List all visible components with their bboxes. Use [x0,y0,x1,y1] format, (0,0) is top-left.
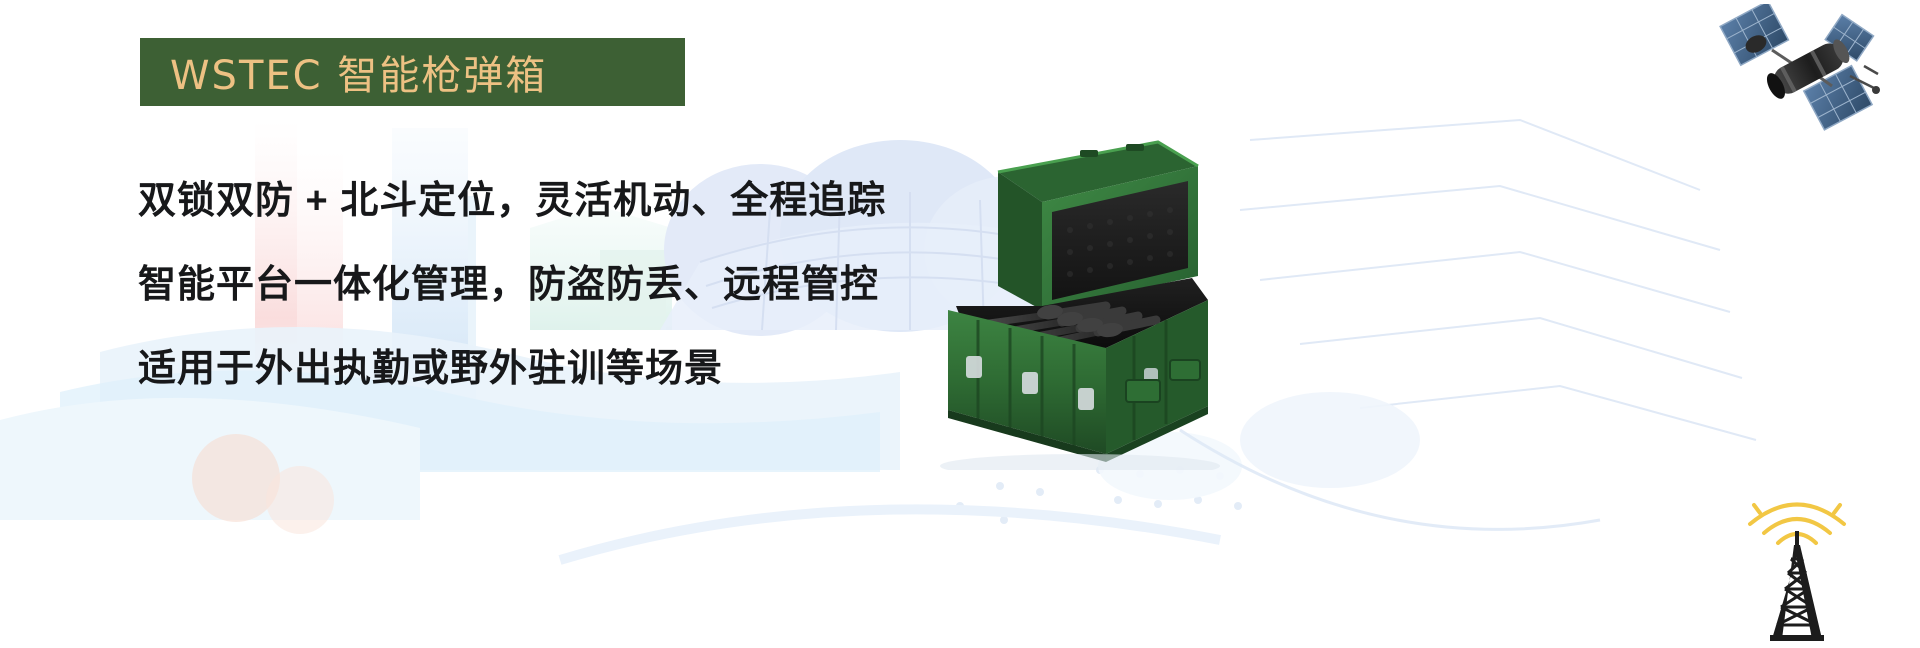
product-image [930,110,1270,470]
promo-banner-canvas: WSTEC 智能枪弹箱 双锁双防 + 北斗定位，灵活机动、全程追踪 智能平台一体… [0,0,1920,648]
signal-tower-icon [1722,497,1872,642]
feature-line-2: 智能平台一体化管理，防盗防丢、远程管控 [138,266,958,304]
title-banner: WSTEC 智能枪弹箱 [140,38,685,106]
feature-list: 双锁双防 + 北斗定位，灵活机动、全程追踪 智能平台一体化管理，防盗防丢、远程管… [138,182,958,434]
feature-line-3: 适用于外出执勤或野外驻训等场景 [138,350,958,388]
satellite-graphic [1714,4,1884,134]
page-title: WSTEC 智能枪弹箱 [140,43,547,101]
tower-graphic [1722,497,1872,642]
satellite-icon [1714,4,1884,134]
feature-line-1: 双锁双防 + 北斗定位，灵活机动、全程追踪 [138,182,958,220]
ammunition-case-illustration [930,110,1270,470]
